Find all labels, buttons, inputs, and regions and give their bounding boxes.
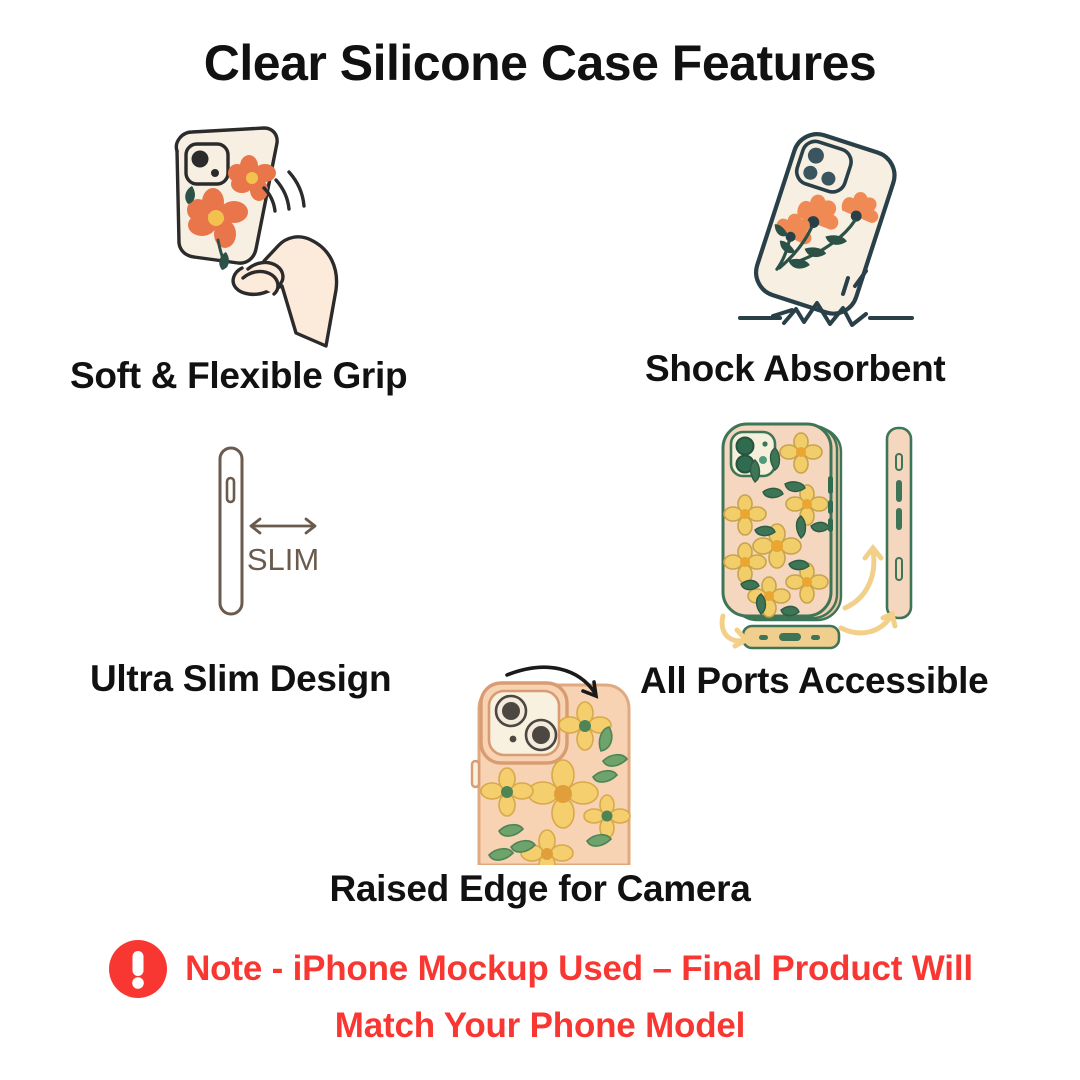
phone-side-profile xyxy=(220,448,242,614)
side-button-icon xyxy=(227,478,234,502)
volume-down-icon xyxy=(896,508,902,530)
infographic-page: Clear Silicone Case Features xyxy=(0,0,1080,1080)
exclamation-circle-icon xyxy=(107,938,169,1000)
note-text-line-2: Match Your Phone Model xyxy=(335,1006,745,1046)
feature-label-shock-absorbent: Shock Absorbent xyxy=(645,348,945,390)
phone-bottom-edge-view xyxy=(743,626,839,648)
feature-label-raised-edge-camera: Raised Edge for Camera xyxy=(0,868,1080,910)
arrow-to-bottom-port-icon xyxy=(722,616,746,646)
camera-lens-small-icon xyxy=(211,169,219,177)
note-text-line-1: Note - iPhone Mockup Used – Final Produc… xyxy=(185,949,973,989)
width-arrow-icon xyxy=(251,519,315,533)
illustration-all-ports-accessible xyxy=(715,418,945,658)
phone-side-edge-view xyxy=(887,428,911,618)
speaker-hole-icon xyxy=(759,635,768,640)
slim-annotation-text: SLIM xyxy=(247,542,319,577)
illustration-ultra-slim-design: SLIM xyxy=(180,430,360,630)
page-title: Clear Silicone Case Features xyxy=(0,34,1080,92)
note-block: Note - iPhone Mockup Used – Final Produc… xyxy=(0,938,1080,1046)
illustration-soft-flexible-grip xyxy=(130,118,400,348)
side-buttons xyxy=(828,476,833,532)
arrow-curve-right-icon xyxy=(845,548,881,608)
side-button-icon xyxy=(472,761,479,787)
feature-label-soft-flexible-grip: Soft & Flexible Grip xyxy=(70,355,407,397)
flash-icon xyxy=(510,736,517,743)
illustration-shock-absorbent xyxy=(700,118,950,348)
volume-up-icon xyxy=(896,480,902,502)
illustration-raised-edge-camera xyxy=(455,665,670,865)
arrow-to-side-buttons-icon xyxy=(841,614,895,633)
charging-port-icon xyxy=(779,633,801,641)
speaker-hole-icon xyxy=(811,635,820,640)
feature-label-ultra-slim-design: Ultra Slim Design xyxy=(90,658,391,700)
camera-lens-icon xyxy=(192,151,209,168)
feature-label-all-ports-accessible: All Ports Accessible xyxy=(640,660,988,702)
